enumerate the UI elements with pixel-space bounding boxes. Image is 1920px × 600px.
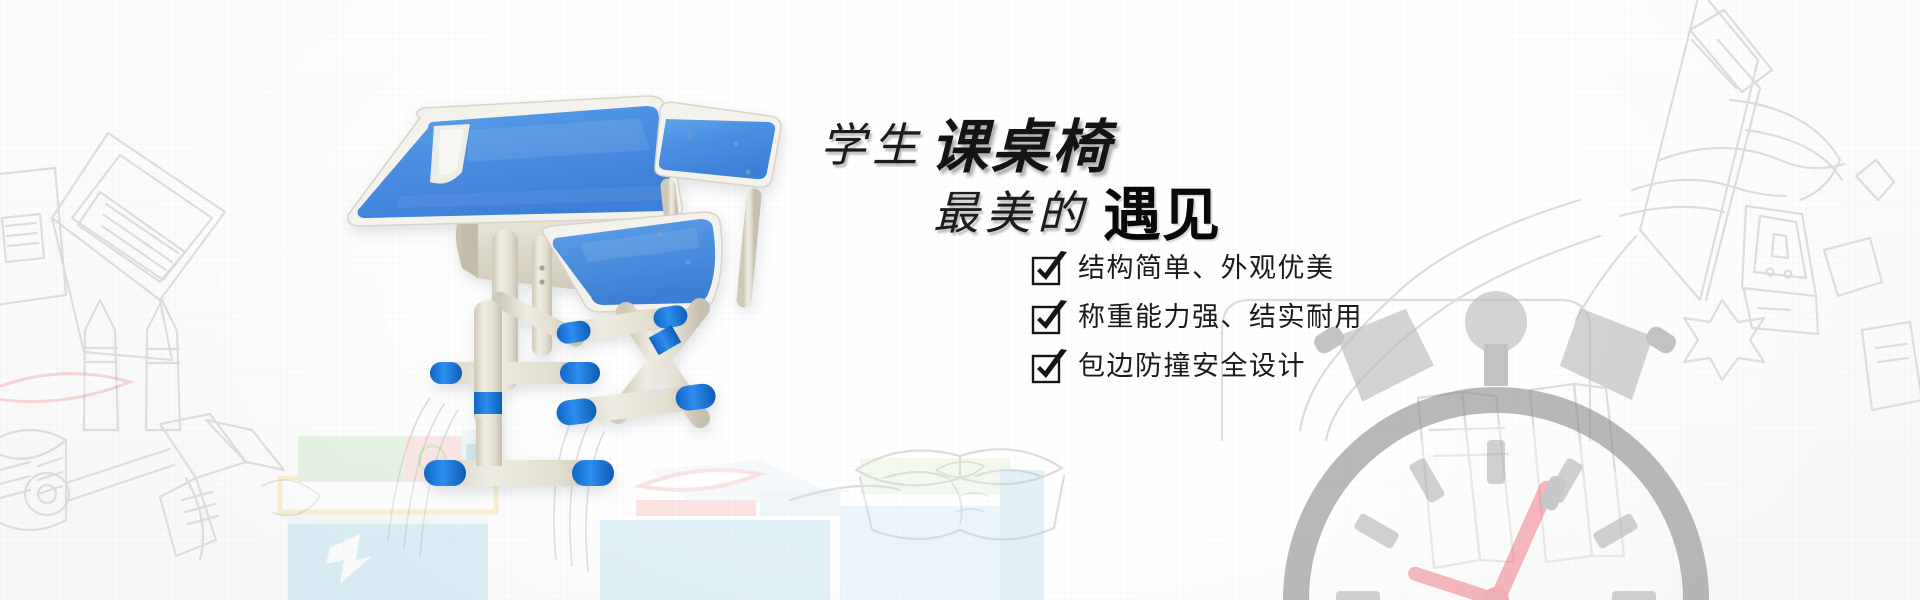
product-photo-desk-chair: [0, 0, 1920, 600]
promo-banner: 学生课桌椅 最美的遇见 结构简单、外观优美: [0, 0, 1920, 600]
